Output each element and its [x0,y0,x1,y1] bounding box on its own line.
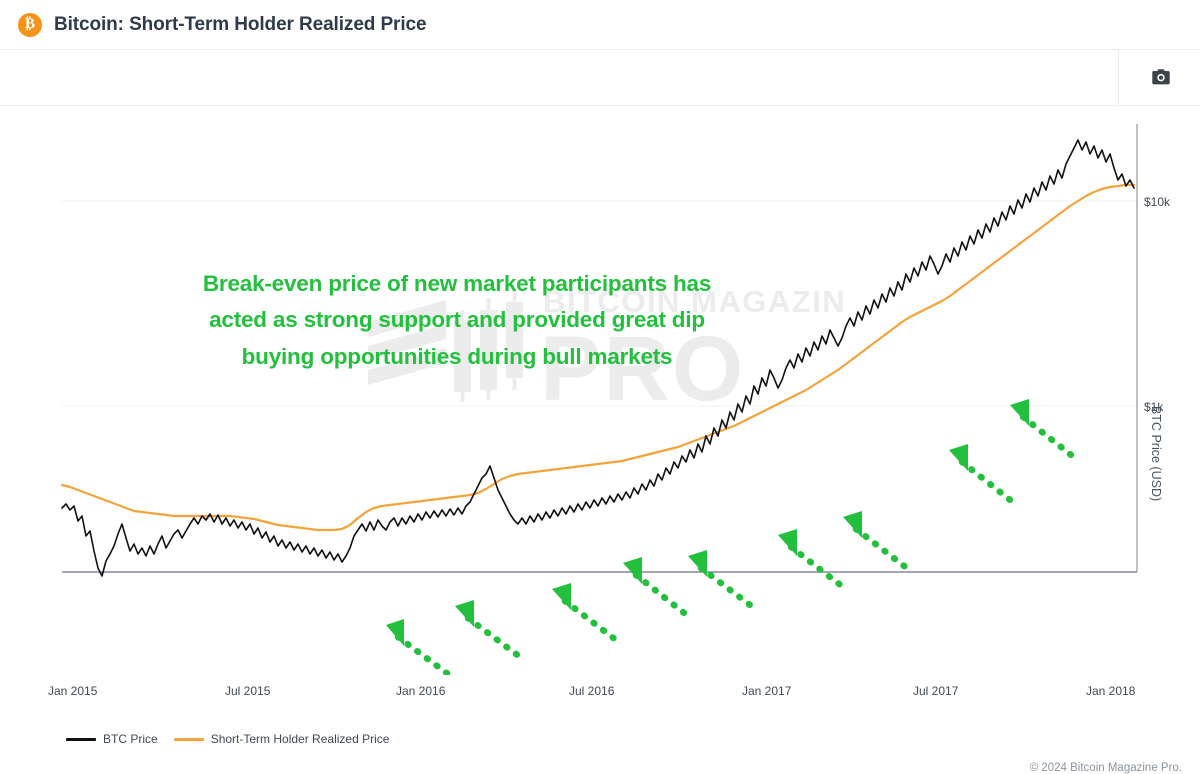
chart-canvas: BITCOIN MAGAZINE PRO ® [0,106,1200,675]
x-tick-label-jul-2015: Jul 2015 [225,684,270,698]
arrow-shaft-6 [791,547,843,587]
page-title: Bitcoin: Short-Term Holder Realized Pric… [54,14,426,36]
toolbar-divider [1118,50,1119,105]
arrowhead-9 [1010,399,1029,426]
arrow-shaft-2 [468,618,520,657]
arrowhead-2 [455,600,474,627]
legend-swatch-btc-price [66,738,96,741]
arrow-shaft-8 [962,462,1014,503]
bitcoin-icon: ₿ [18,13,42,37]
series-sth-realized-price [62,185,1134,530]
arrowhead-3 [552,583,571,610]
x-tick-label-jan-2015: Jan 2015 [48,684,97,698]
chart-toolbar [0,50,1200,106]
arrow-shaft-4 [636,575,688,616]
arrowhead-8 [949,444,968,471]
y-axis-title: BTC Price (USD) [1149,406,1163,501]
arrowhead-7 [843,511,862,538]
arrow-shaft-7 [856,529,908,569]
x-tick-label-jan-2017: Jan 2017 [742,684,791,698]
legend-swatch-sth-realized-price [174,738,204,741]
x-tick-label-jul-2016: Jul 2016 [569,684,614,698]
annotation-arrow-group [398,417,1075,675]
price-plot [0,106,1200,675]
chart-legend: BTC Price Short-Term Holder Realized Pri… [66,732,389,746]
arrowhead-5 [688,550,707,577]
legend-item-btc-price[interactable]: BTC Price [66,732,158,746]
legend-label-btc-price: BTC Price [103,732,158,746]
arrowhead-4 [623,557,642,584]
x-tick-label-jan-2018: Jan 2018 [1086,684,1135,698]
arrow-shaft-9 [1023,417,1075,458]
series-btc-price [62,140,1134,576]
x-tick-label-jan-2016: Jan 2016 [396,684,445,698]
copyright-credit: © 2024 Bitcoin Magazine Pro. [1030,762,1182,774]
page-header: ₿ Bitcoin: Short-Term Holder Realized Pr… [0,0,1200,50]
arrowhead-1 [386,619,404,646]
arrow-shaft-1 [398,637,452,675]
chart-page: ₿ Bitcoin: Short-Term Holder Realized Pr… [0,0,1200,675]
camera-icon[interactable] [1148,64,1174,90]
arrow-shaft-5 [701,568,754,608]
arrowhead-6 [778,529,797,556]
legend-item-sth-realized-price[interactable]: Short-Term Holder Realized Price [174,732,390,746]
x-tick-label-jul-2017: Jul 2017 [913,684,958,698]
y-tick-label-10k: $10k [1144,195,1170,209]
legend-label-sth-realized-price: Short-Term Holder Realized Price [211,732,390,746]
arrow-shaft-3 [565,601,616,640]
